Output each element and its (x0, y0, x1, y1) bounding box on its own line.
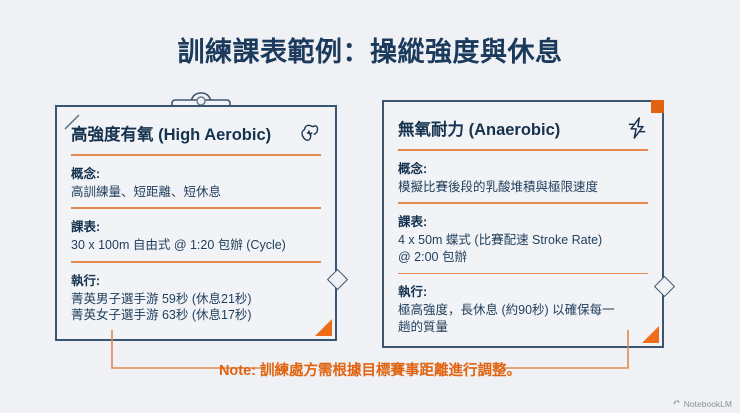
section-line: @ 2:00 包辦 (398, 249, 648, 266)
corner-square-icon (651, 100, 664, 113)
section-execution: 執行: 菁英男子選手游 59秒 (休息21秒) 菁英女子選手游 63秒 (休息1… (71, 263, 321, 332)
section-workout: 課表: 4 x 50m 蝶式 (比賽配速 Stroke Rate) @ 2:00… (398, 204, 648, 273)
slide-canvas: 訓練課表範例：操縱強度與休息 高強度有氧 (High Aerobic) (0, 0, 740, 413)
section-line: 極高強度，長休息 (約90秒) 以確保每一 (398, 302, 648, 319)
section-value: 高訓練量、短距離、短休息 (71, 184, 321, 201)
section-label: 課表: (71, 216, 321, 235)
page-title: 訓練課表範例：操縱強度與休息 (0, 30, 740, 69)
section-value: 菁英男子選手游 59秒 (休息21秒) 菁英女子選手游 63秒 (休息17秒) (71, 291, 321, 325)
section-value: 4 x 50m 蝶式 (比賽配速 Stroke Rate) @ 2:00 包辦 (398, 232, 648, 266)
card-header: 高強度有氧 (High Aerobic) (71, 121, 321, 154)
watermark-label: NotebookLM (684, 399, 732, 409)
section-line: 菁英女子選手游 63秒 (休息17秒) (71, 307, 321, 324)
section-line: 4 x 50m 蝶式 (比賽配速 Stroke Rate) (398, 232, 648, 249)
section-value: 模擬比賽後段的乳酸堆積與極限速度 (398, 179, 648, 196)
anatomical-heart-icon (299, 122, 321, 144)
card-anaerobic[interactable]: 無氧耐力 (Anaerobic) 概念: 模擬比賽後段的乳酸堆積與極限速度 (382, 100, 664, 348)
section-label: 課表: (398, 211, 648, 230)
section-label: 概念: (398, 158, 648, 177)
corner-tick-icon (64, 114, 80, 130)
section-concept: 概念: 模擬比賽後段的乳酸堆積與極限速度 (398, 151, 648, 203)
card-high-aerobic[interactable]: 高強度有氧 (High Aerobic) 概念: 高訓練量、短距離、短休息 (55, 105, 337, 341)
section-line: 菁英男子選手游 59秒 (休息21秒) (71, 291, 321, 308)
card-heading: 無氧耐力 (Anaerobic) (398, 116, 560, 140)
section-label: 執行: (71, 270, 321, 289)
section-line: 30 x 100m 自由式 @ 1:20 包辦 (Cycle) (71, 237, 321, 254)
watermark: NotebookLM (672, 398, 732, 409)
note-label: Note: 訓練處方需根據目標賽事距離進行調整。 (0, 359, 740, 380)
card-header: 無氧耐力 (Anaerobic) (398, 116, 648, 149)
section-workout: 課表: 30 x 100m 自由式 @ 1:20 包辦 (Cycle) (71, 209, 321, 261)
section-label: 執行: (398, 281, 648, 300)
section-concept: 概念: 高訓練量、短距離、短休息 (71, 156, 321, 208)
card-heading: 高強度有氧 (High Aerobic) (71, 121, 271, 145)
section-line: 模擬比賽後段的乳酸堆積與極限速度 (398, 179, 648, 196)
section-value: 30 x 100m 自由式 @ 1:20 包辦 (Cycle) (71, 237, 321, 254)
notebooklm-icon (672, 398, 681, 409)
section-line: 高訓練量、短距離、短休息 (71, 184, 321, 201)
section-label: 概念: (71, 163, 321, 182)
lightning-bolt-icon (626, 116, 648, 140)
